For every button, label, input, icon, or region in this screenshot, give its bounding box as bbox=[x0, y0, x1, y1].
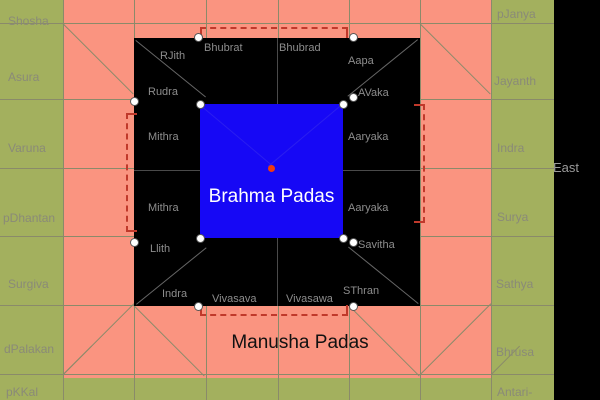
paisachika-band-right bbox=[491, 0, 554, 400]
vastu-mandala-canvas[interactable]: Brahma Padas Manusha Padas East Bhubrat … bbox=[0, 0, 600, 400]
vertex-handle-top-right[interactable] bbox=[349, 33, 358, 42]
vertex-handle-inner-bl[interactable] bbox=[196, 234, 205, 243]
vertex-handle-lower-right[interactable] bbox=[349, 238, 358, 247]
vertex-handle-upper-right[interactable] bbox=[349, 93, 358, 102]
paisachika-band-bottom bbox=[63, 378, 491, 400]
gridline-h-6 bbox=[0, 374, 554, 375]
vertex-handle-bottom-right[interactable] bbox=[349, 302, 358, 311]
selection-bracket-top[interactable] bbox=[200, 27, 348, 38]
selection-bracket-right[interactable] bbox=[414, 104, 425, 223]
manusha-padas-label: Manusha Padas bbox=[190, 332, 410, 354]
paisachika-band-left bbox=[0, 0, 63, 400]
devika-divider-right bbox=[343, 170, 420, 171]
direction-label-east: East bbox=[553, 160, 579, 175]
gridline-v-7 bbox=[491, 0, 492, 400]
devika-divider-bottom bbox=[277, 238, 278, 306]
vertex-handle-inner-br[interactable] bbox=[339, 234, 348, 243]
vertex-handle-inner-tl[interactable] bbox=[196, 100, 205, 109]
devika-divider-left bbox=[134, 170, 200, 171]
gridline-v-1 bbox=[63, 0, 64, 400]
vertex-handle-upper-left[interactable] bbox=[130, 97, 139, 106]
vertex-handle-inner-tr[interactable] bbox=[339, 100, 348, 109]
selection-bracket-bottom[interactable] bbox=[200, 305, 348, 316]
vertex-handle-top-left[interactable] bbox=[194, 33, 203, 42]
vertex-handle-bottom-left[interactable] bbox=[194, 302, 203, 311]
devika-divider-top bbox=[277, 38, 278, 104]
gridline-h-1 bbox=[0, 23, 554, 24]
center-point-marker bbox=[268, 165, 275, 172]
vertex-handle-lower-left[interactable] bbox=[130, 238, 139, 247]
selection-bracket-left[interactable] bbox=[126, 113, 137, 232]
